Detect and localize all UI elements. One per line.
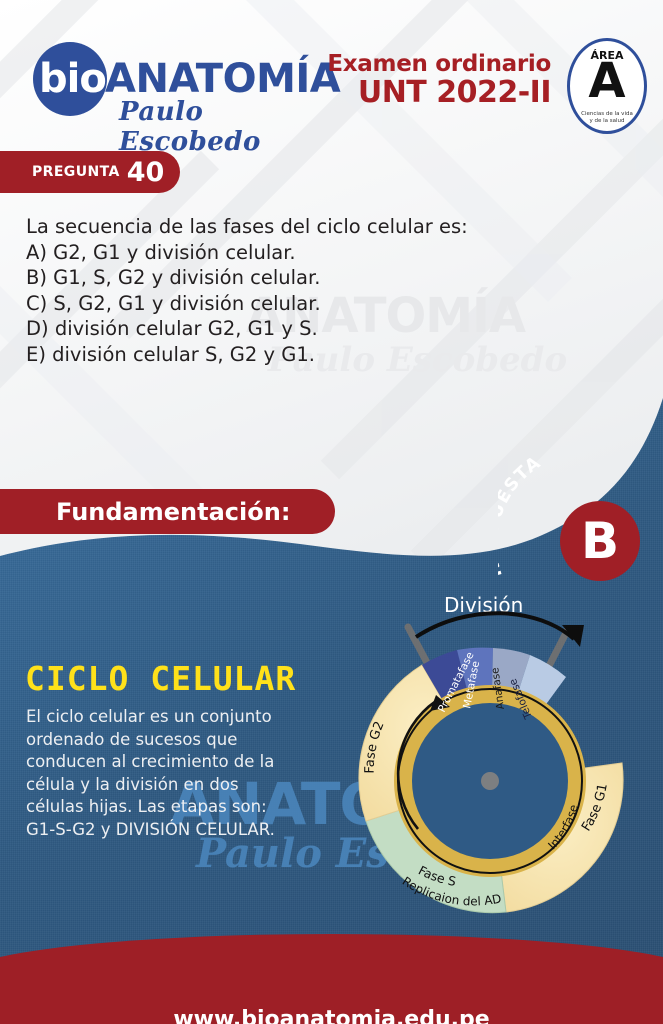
cell-cycle-diagram: Fase G1 Fase G2 Fase S Replicaion del AD…: [318, 585, 663, 945]
area-badge: ÁREA A Ciencias de la vida y de la salud: [567, 38, 647, 134]
area-badge-sub-line2: y de la salud: [570, 118, 644, 125]
fundamentacion-banner: Fundamentación:: [0, 489, 335, 534]
fundamentacion-label: Fundamentación:: [56, 498, 290, 526]
explanation-title: CICLO CELULAR: [25, 659, 296, 698]
exam-title: Examen ordinario UNT 2022-II: [327, 51, 551, 109]
answer-badge: RESPUESTA B: [498, 458, 663, 598]
exam-title-line2: UNT 2022-II: [327, 77, 551, 109]
division-arc-arrow: [416, 613, 574, 639]
logo-wordmark: ANATOMÍA: [105, 56, 340, 102]
infographic-page: bio ANATOMÍA Paulo Escobedo Examen ordin…: [0, 0, 663, 1024]
logo-mark-text: bio: [39, 52, 103, 106]
explanation-line-1: El ciclo celular es un conjunto: [26, 706, 311, 729]
explanation-line-4: célula y la división en dos: [26, 774, 311, 797]
question-badge: PREGUNTA 40: [0, 151, 180, 193]
question-badge-number: 40: [127, 157, 165, 188]
question-option-b[interactable]: B) G1, S, G2 y división celular.: [26, 265, 486, 291]
respuesta-letter: B: [560, 501, 640, 581]
question-stem: La secuencia de las fases del ciclo celu…: [26, 214, 486, 240]
brand-logo[interactable]: bio ANATOMÍA Paulo Escobedo: [33, 40, 283, 135]
logo-author: Paulo Escobedo: [119, 97, 283, 157]
spindle-hub: [481, 772, 499, 790]
footer-url[interactable]: www.bioanatomia.edu.pe: [0, 1007, 663, 1024]
exam-title-line1: Examen ordinario: [327, 51, 551, 77]
area-badge-sub: Ciencias de la vida y de la salud: [570, 111, 644, 124]
explanation-line-3: conducen al crecimiento de la: [26, 751, 311, 774]
question-option-e[interactable]: E) división celular S, G2 y G1.: [26, 342, 486, 368]
explanation-body: El ciclo celular es un conjunto ordenado…: [26, 706, 311, 841]
area-badge-letter: A: [570, 55, 644, 107]
explanation-line-5: células hijas. Las etapas son:: [26, 796, 311, 819]
respuesta-label: RESPUESTA: [498, 458, 545, 579]
question-option-d[interactable]: D) división celular G2, G1 y S.: [26, 316, 486, 342]
explanation-line-2: ordenado de sucesos que: [26, 729, 311, 752]
explanation-line-6: G1-S-G2 y DIVISIÓN CELULAR.: [26, 819, 311, 842]
question-badge-label: PREGUNTA: [32, 164, 120, 180]
question-block: La secuencia de las fases del ciclo celu…: [26, 214, 486, 367]
question-option-c[interactable]: C) S, G2, G1 y división celular.: [26, 291, 486, 317]
footer-bar: www.bioanatomia.edu.pe: [0, 934, 663, 1024]
question-option-a[interactable]: A) G2, G1 y división celular.: [26, 240, 486, 266]
